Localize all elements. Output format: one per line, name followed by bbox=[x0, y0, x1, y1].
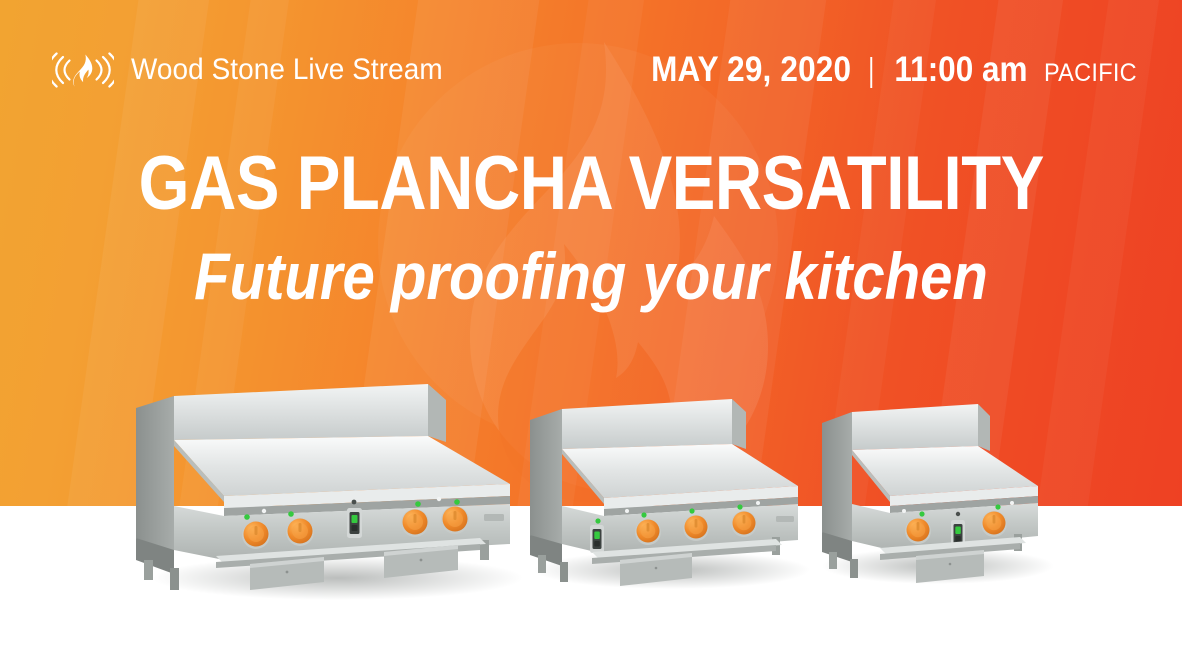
brand-name: Wood Stone Live Stream bbox=[131, 53, 443, 87]
event-datetime: MAY 29, 2020 | 11:00 am PACIFIC bbox=[640, 50, 1140, 90]
product-large-gas-plancha bbox=[128, 378, 533, 603]
page-title-text: GAS PLANCHA VERSATILITY bbox=[138, 146, 1043, 222]
page-subtitle: Future proofing your kitchen bbox=[0, 243, 1182, 309]
page-subtitle-text: Future proofing your kitchen bbox=[194, 243, 988, 309]
event-time: 11:00 am bbox=[895, 50, 1028, 90]
datetime-separator: | bbox=[868, 51, 874, 89]
brand-lockup: Wood Stone Live Stream bbox=[52, 50, 466, 90]
promo-banner: Wood Stone Live Stream MAY 29, 2020 | 11… bbox=[0, 0, 1182, 656]
product-medium-gas-plancha bbox=[520, 392, 820, 592]
event-date: MAY 29, 2020 bbox=[651, 50, 851, 90]
product-small-gas-plancha bbox=[812, 396, 1060, 586]
broadcast-flame-icon bbox=[52, 50, 114, 90]
page-title: GAS PLANCHA VERSATILITY bbox=[0, 146, 1182, 222]
event-timezone: PACIFIC bbox=[1044, 59, 1137, 88]
